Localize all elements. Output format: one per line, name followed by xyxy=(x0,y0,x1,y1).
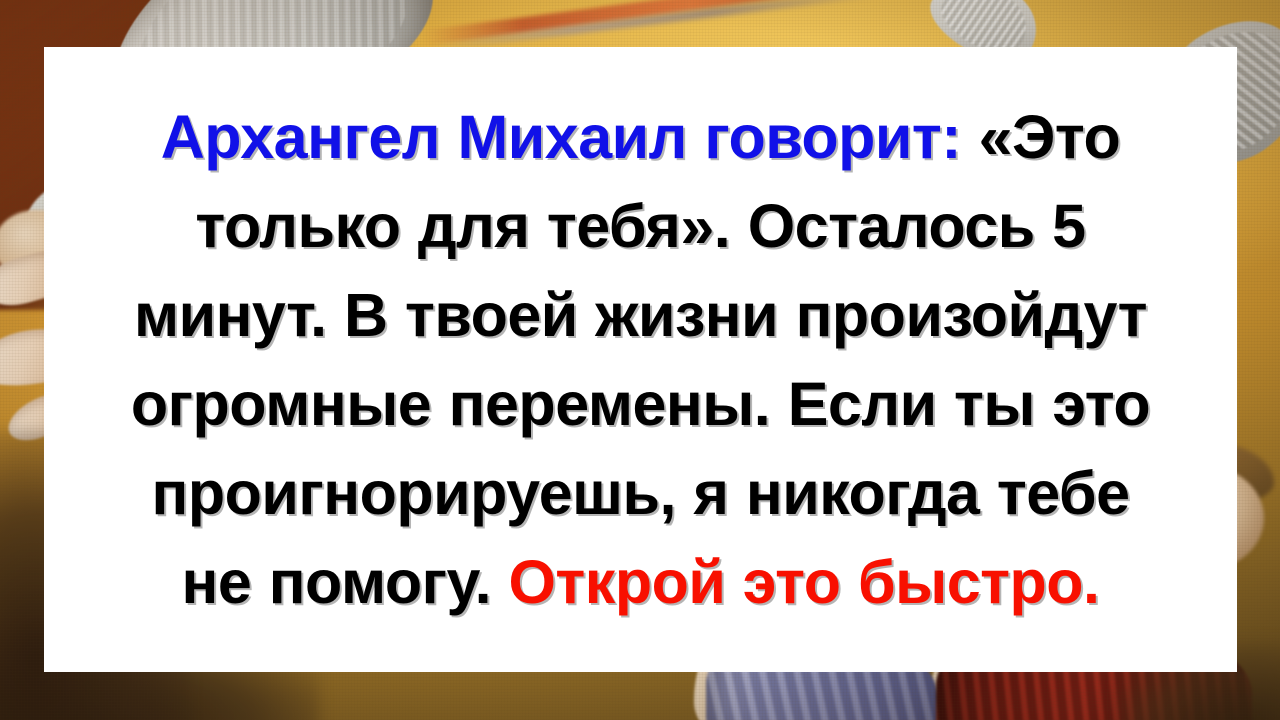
headline-line-4-text: огромные перемены. Если ты это xyxy=(131,370,1150,438)
headline-line-6-black: не помогу. xyxy=(182,548,509,616)
headline-line-2: только для тебя». Осталось 5 xyxy=(70,182,1211,271)
headline-red-call-to-action: Открой это быстро. xyxy=(508,548,1099,616)
screenshot-stage: Архангел Михаил говорит: «Это только для… xyxy=(0,0,1280,720)
headline-line-6: не помогу. Открой это быстро. xyxy=(70,538,1211,627)
headline-line-5-text: проигнорируешь, я никогда тебе xyxy=(151,459,1129,527)
headline-line-1-black: «Это xyxy=(961,103,1120,171)
headline-blue-phrase: Архангел Михаил говорит: xyxy=(161,103,961,171)
message-card: Архангел Михаил говорит: «Это только для… xyxy=(44,47,1237,672)
headline-line-3: минут. В твоей жизни произойдут xyxy=(70,271,1211,360)
headline-line-3-text: минут. В твоей жизни произойдут xyxy=(134,281,1147,349)
headline-line-2-text: только для тебя». Осталось 5 xyxy=(195,192,1085,260)
headline-line-4: огромные перемены. Если ты это xyxy=(70,360,1211,449)
headline-line-5: проигнорируешь, я никогда тебе xyxy=(70,449,1211,538)
headline-line-1: Архангел Михаил говорит: «Это xyxy=(70,93,1211,182)
